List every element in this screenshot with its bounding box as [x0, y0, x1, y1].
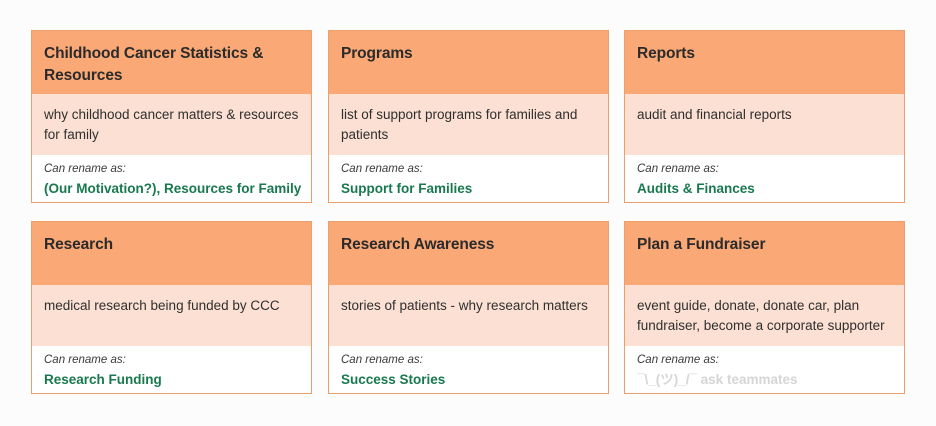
- card-description: audit and financial reports: [637, 105, 892, 125]
- card-rename-section: Can rename as: Support for Families: [329, 155, 608, 203]
- card-description: medical research being funded by CCC: [44, 296, 299, 316]
- content-card[interactable]: Research Awareness stories of patients -…: [328, 221, 609, 394]
- content-card[interactable]: Programs list of support programs for fa…: [328, 30, 609, 203]
- card-title: Research Awareness: [341, 234, 596, 256]
- card-header: Childhood Cancer Statistics & Resources: [32, 31, 311, 94]
- card-body: stories of patients - why research matte…: [329, 285, 608, 346]
- rename-value[interactable]: ¯\_(ツ)_/¯ ask teammates: [637, 371, 892, 389]
- rename-label: Can rename as:: [44, 162, 299, 177]
- rename-label: Can rename as:: [637, 353, 892, 368]
- rename-label: Can rename as:: [341, 162, 596, 177]
- card-title: Research: [44, 234, 299, 256]
- card-header: Research Awareness: [329, 222, 608, 285]
- card-header: Plan a Fundraiser: [625, 222, 904, 285]
- rename-label: Can rename as:: [44, 353, 299, 368]
- card-board: Childhood Cancer Statistics & Resources …: [0, 0, 936, 426]
- card-body: audit and financial reports: [625, 94, 904, 155]
- card-rename-section: Can rename as: ¯\_(ツ)_/¯ ask teammates: [625, 346, 904, 394]
- card-rename-section: Can rename as: (Our Motivation?), Resour…: [32, 155, 311, 203]
- card-description: event guide, donate, donate car, plan fu…: [637, 296, 892, 337]
- card-description: stories of patients - why research matte…: [341, 296, 596, 316]
- card-rename-section: Can rename as: Research Funding: [32, 346, 311, 394]
- card-title: Childhood Cancer Statistics & Resources: [44, 43, 299, 88]
- rename-label: Can rename as:: [341, 353, 596, 368]
- rename-label: Can rename as:: [637, 162, 892, 177]
- card-header: Research: [32, 222, 311, 285]
- card-header: Programs: [329, 31, 608, 94]
- content-card[interactable]: Research medical research being funded b…: [31, 221, 312, 394]
- rename-value[interactable]: (Our Motivation?), Resources for Family: [44, 180, 299, 198]
- card-rename-section: Can rename as: Success Stories: [329, 346, 608, 394]
- card-title: Plan a Fundraiser: [637, 234, 892, 256]
- card-body: list of support programs for families an…: [329, 94, 608, 155]
- rename-value[interactable]: Support for Families: [341, 180, 596, 198]
- card-description: why childhood cancer matters & resources…: [44, 105, 299, 146]
- content-card[interactable]: Childhood Cancer Statistics & Resources …: [31, 30, 312, 203]
- card-title: Programs: [341, 43, 596, 65]
- card-body: why childhood cancer matters & resources…: [32, 94, 311, 155]
- content-card[interactable]: Plan a Fundraiser event guide, donate, d…: [624, 221, 905, 394]
- card-title: Reports: [637, 43, 892, 65]
- card-body: event guide, donate, donate car, plan fu…: [625, 285, 904, 346]
- card-body: medical research being funded by CCC: [32, 285, 311, 346]
- rename-value[interactable]: Audits & Finances: [637, 180, 892, 198]
- card-header: Reports: [625, 31, 904, 94]
- rename-value[interactable]: Research Funding: [44, 371, 299, 389]
- rename-value[interactable]: Success Stories: [341, 371, 596, 389]
- card-rename-section: Can rename as: Audits & Finances: [625, 155, 904, 203]
- card-description: list of support programs for families an…: [341, 105, 596, 146]
- content-card[interactable]: Reports audit and financial reports Can …: [624, 30, 905, 203]
